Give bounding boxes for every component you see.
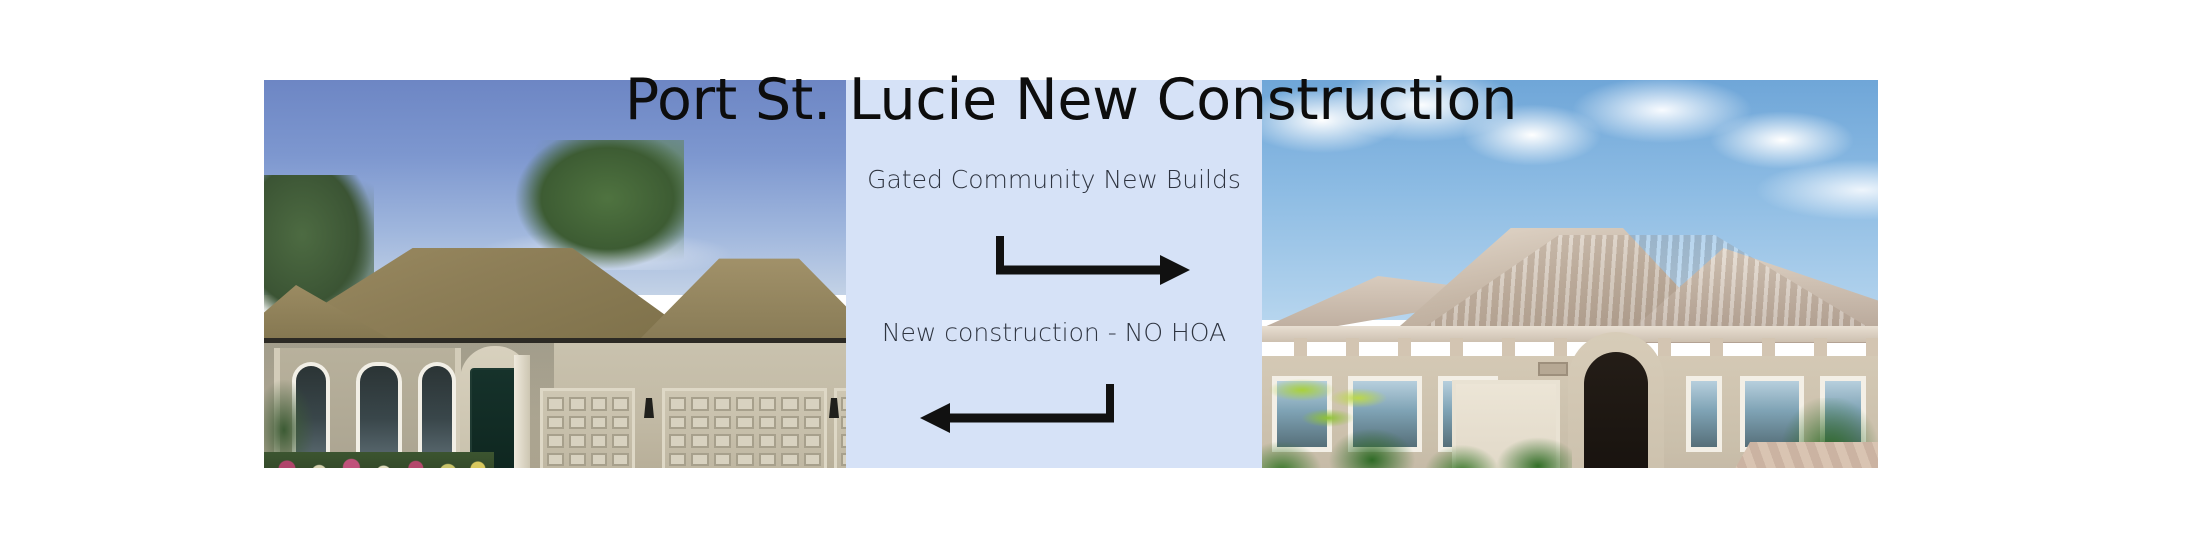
garage-door-2-left [662, 388, 827, 468]
promo-banner: Gated Community New Builds New construct… [264, 80, 1878, 468]
wall-medallion-right [1538, 362, 1568, 376]
tagline-gated-community: Gated Community New Builds [846, 165, 1262, 194]
window-4-right [1686, 376, 1722, 452]
house-photo-left [264, 80, 846, 468]
arched-window-3-left [418, 362, 456, 457]
center-text-panel: Gated Community New Builds New construct… [846, 80, 1262, 468]
tropical-palm-right [1262, 366, 1402, 442]
arrow-left-icon [916, 380, 1116, 430]
flower-bed-left [264, 452, 494, 468]
recessed-entry-right [1584, 352, 1648, 468]
tagline-no-hoa: New construction - NO HOA [846, 318, 1262, 347]
arrow-right-icon [994, 232, 1194, 282]
entry-column-left [514, 355, 530, 468]
house-photo-right [1262, 80, 1878, 468]
arched-window-2-left [356, 362, 402, 457]
garage-door-1-left [540, 388, 635, 468]
